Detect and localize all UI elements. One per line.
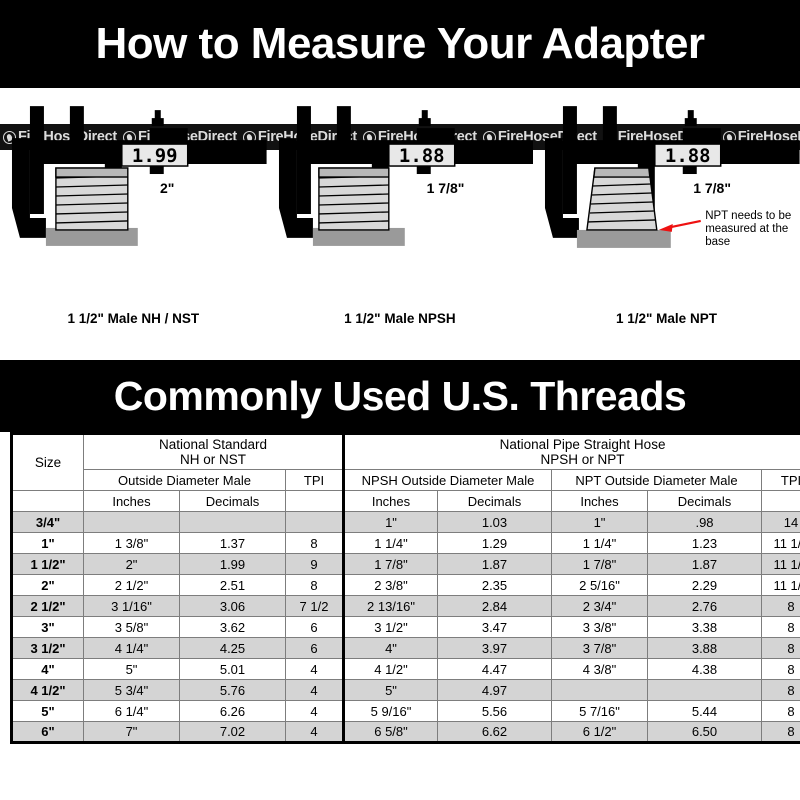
table-header-nh-inches: Inches (84, 491, 180, 512)
table-header-np-tpi-blank (762, 491, 800, 512)
caliper-diagram-section: FireHoseDirectFireHoseDirectFireHoseDire… (0, 88, 800, 360)
cell-npt-decimals: 3.88 (648, 638, 762, 659)
table-row: 5"6 1/4"6.2645 9/16"5.565 7/16"5.448 (12, 701, 800, 722)
npt-base-arrow-icon (659, 221, 701, 232)
cell-nh-tpi: 4 (286, 701, 344, 722)
caliper-item-nh-nst: 1.99 2 (0, 88, 267, 360)
cell-nh-decimals: 4.25 (180, 638, 286, 659)
caliper-reading-npsh: 1.88 (399, 145, 445, 167)
cell-npsh-decimals: 4.97 (438, 680, 552, 701)
section-title-banner: Commonly Used U.S. Threads (0, 360, 800, 432)
section-title: Commonly Used U.S. Threads (114, 373, 687, 420)
cell-npsh-decimals: 1.87 (438, 554, 552, 575)
group-np-line2: NPSH or NPT (346, 452, 800, 467)
cell-size: 4" (12, 659, 84, 680)
cell-np-tpi: 8 (762, 722, 800, 743)
cell-npsh-inches: 1 7/8" (344, 554, 438, 575)
cell-npt-decimals: 3.38 (648, 617, 762, 638)
caliper-fraction-npt: 1 7/8" (693, 180, 731, 196)
cell-npsh-decimals: 2.35 (438, 575, 552, 596)
table-row: 1 1/2"2"1.9991 7/8"1.871 7/8"1.8711 1/2 (12, 554, 800, 575)
cell-nh-tpi: 8 (286, 533, 344, 554)
cell-size: 2" (12, 575, 84, 596)
cell-npsh-decimals: 3.47 (438, 617, 552, 638)
cell-nh-decimals: 5.01 (180, 659, 286, 680)
table-header-nh-decimals: Decimals (180, 491, 286, 512)
table-row: 3 1/2"4 1/4"4.2564"3.973 7/8"3.888 (12, 638, 800, 659)
infographic-page: How to Measure Your Adapter FireHoseDire… (0, 0, 800, 800)
cell-nh-decimals: 3.06 (180, 596, 286, 617)
cell-np-tpi: 11 1/2 (762, 575, 800, 596)
caliper-illustration-npt: 1.88 (533, 88, 800, 288)
caliper-illustration-nh: 1.99 (0, 88, 267, 288)
cell-nh-tpi: 7 1/2 (286, 596, 344, 617)
cell-nh-tpi: 9 (286, 554, 344, 575)
caliper-group: 1.99 2 (0, 88, 800, 360)
table-header-size: Size (12, 434, 84, 491)
cell-nh-inches (84, 512, 180, 533)
cell-npsh-inches: 4" (344, 638, 438, 659)
cell-npsh-inches: 3 1/2" (344, 617, 438, 638)
cell-nh-decimals: 2.51 (180, 575, 286, 596)
table-header-npsh-inches: Inches (344, 491, 438, 512)
caliper-caption-npsh: 1 1/2" Male NPSH (267, 311, 534, 326)
table-header-npt-od: NPT Outside Diameter Male (552, 470, 762, 491)
cell-size: 4 1/2" (12, 680, 84, 701)
cell-npt-inches: 2 3/4" (552, 596, 648, 617)
table-header-nh-od: Outside Diameter Male (84, 470, 286, 491)
cell-npt-inches: 6 1/2" (552, 722, 648, 743)
cell-size: 2 1/2" (12, 596, 84, 617)
table-header-unit-row: Inches Decimals Inches Decimals Inches D… (12, 491, 800, 512)
cell-nh-decimals: 5.76 (180, 680, 286, 701)
page-title: How to Measure Your Adapter (95, 19, 704, 69)
cell-npt-inches: 1 1/4" (552, 533, 648, 554)
threads-table-container: Size National Standard NH or NST Nationa… (0, 432, 800, 744)
cell-nh-inches: 6 1/4" (84, 701, 180, 722)
cell-npsh-inches: 2 3/8" (344, 575, 438, 596)
cell-npt-decimals: 4.38 (648, 659, 762, 680)
cell-nh-inches: 5 3/4" (84, 680, 180, 701)
cell-size: 3" (12, 617, 84, 638)
cell-nh-inches: 2 1/2" (84, 575, 180, 596)
cell-np-tpi: 8 (762, 617, 800, 638)
table-row: 2 1/2"3 1/16"3.067 1/22 13/16"2.842 3/4"… (12, 596, 800, 617)
cell-np-tpi: 14 (762, 512, 800, 533)
table-header-size-blank (12, 491, 84, 512)
caliper-illustration-npsh: 1.88 (267, 88, 534, 288)
npt-base-note-line1: NPT needs to be (705, 210, 800, 223)
group-np-line1: National Pipe Straight Hose (346, 437, 800, 452)
cell-nh-decimals: 1.37 (180, 533, 286, 554)
cell-nh-tpi: 8 (286, 575, 344, 596)
caliper-caption-npt: 1 1/2" Male NPT (533, 311, 800, 326)
cell-npt-decimals (648, 680, 762, 701)
cell-size: 6" (12, 722, 84, 743)
cell-npt-decimals: 1.87 (648, 554, 762, 575)
cell-npt-inches: 2 5/16" (552, 575, 648, 596)
cell-nh-tpi: 4 (286, 680, 344, 701)
group-nh-line2: NH or NST (85, 452, 341, 467)
cell-size: 3 1/2" (12, 638, 84, 659)
npt-base-note: NPT needs to be measured at the base (705, 210, 800, 249)
cell-size: 3/4" (12, 512, 84, 533)
table-header-group-row: Size National Standard NH or NST Nationa… (12, 434, 800, 470)
cell-nh-decimals: 3.62 (180, 617, 286, 638)
cell-np-tpi: 8 (762, 596, 800, 617)
page-title-banner: How to Measure Your Adapter (0, 0, 800, 88)
caliper-fraction-nh: 2" (160, 180, 174, 196)
cell-nh-decimals: 1.99 (180, 554, 286, 575)
threads-table: Size National Standard NH or NST Nationa… (10, 432, 800, 744)
cell-np-tpi: 8 (762, 638, 800, 659)
cell-nh-tpi: 6 (286, 617, 344, 638)
table-header-npt-inches: Inches (552, 491, 648, 512)
table-header-group-np: National Pipe Straight Hose NPSH or NPT (344, 434, 800, 470)
cell-npsh-decimals: 5.56 (438, 701, 552, 722)
table-row: 1"1 3/8"1.3781 1/4"1.291 1/4"1.2311 1/2 (12, 533, 800, 554)
cell-npsh-inches: 2 13/16" (344, 596, 438, 617)
cell-nh-inches: 3 5/8" (84, 617, 180, 638)
cell-nh-inches: 5" (84, 659, 180, 680)
cell-nh-tpi (286, 512, 344, 533)
caliper-reading-npt: 1.88 (665, 145, 711, 167)
cell-npt-decimals: 1.23 (648, 533, 762, 554)
caliper-reading-nh: 1.99 (132, 145, 178, 167)
cell-np-tpi: 8 (762, 659, 800, 680)
caliper-fraction-npsh: 1 7/8" (427, 180, 465, 196)
cell-npsh-decimals: 1.29 (438, 533, 552, 554)
cell-npt-decimals: 6.50 (648, 722, 762, 743)
cell-npt-inches: 5 7/16" (552, 701, 648, 722)
table-header-npsh-decimals: Decimals (438, 491, 552, 512)
table-row: 3"3 5/8"3.6263 1/2"3.473 3/8"3.388 (12, 617, 800, 638)
cell-npt-inches: 1 7/8" (552, 554, 648, 575)
cell-npt-inches: 1" (552, 512, 648, 533)
npt-base-note-line2: measured at the base (705, 223, 800, 249)
cell-nh-decimals: 7.02 (180, 722, 286, 743)
cell-size: 1 1/2" (12, 554, 84, 575)
table-row: 2"2 1/2"2.5182 3/8"2.352 5/16"2.2911 1/2 (12, 575, 800, 596)
cell-nh-inches: 2" (84, 554, 180, 575)
cell-nh-decimals (180, 512, 286, 533)
caliper-item-npt: 1.88 (533, 88, 800, 360)
table-header-npsh-od: NPSH Outside Diameter Male (344, 470, 552, 491)
cell-npt-inches: 3 3/8" (552, 617, 648, 638)
cell-np-tpi: 11 1/2 (762, 554, 800, 575)
table-row: 4 1/2"5 3/4"5.7645"4.978 (12, 680, 800, 701)
cell-nh-inches: 4 1/4" (84, 638, 180, 659)
cell-npsh-inches: 1" (344, 512, 438, 533)
cell-size: 1" (12, 533, 84, 554)
cell-npsh-decimals: 2.84 (438, 596, 552, 617)
cell-npsh-inches: 5 9/16" (344, 701, 438, 722)
table-header-npt-decimals: Decimals (648, 491, 762, 512)
table-header-group-nh: National Standard NH or NST (84, 434, 344, 470)
table-row: 3/4"1"1.031".9814 (12, 512, 800, 533)
cell-npt-decimals: 5.44 (648, 701, 762, 722)
group-nh-line1: National Standard (85, 437, 341, 452)
table-row: 6"7"7.0246 5/8"6.626 1/2"6.508 (12, 722, 800, 743)
cell-npt-decimals: .98 (648, 512, 762, 533)
cell-np-tpi: 8 (762, 680, 800, 701)
table-row: 4"5"5.0144 1/2"4.474 3/8"4.388 (12, 659, 800, 680)
table-header-sub-row: Outside Diameter Male TPI NPSH Outside D… (12, 470, 800, 491)
cell-npsh-inches: 4 1/2" (344, 659, 438, 680)
cell-npt-inches (552, 680, 648, 701)
cell-npsh-decimals: 1.03 (438, 512, 552, 533)
threads-table-body: 3/4"1"1.031".98141"1 3/8"1.3781 1/4"1.29… (12, 512, 800, 743)
cell-nh-inches: 1 3/8" (84, 533, 180, 554)
cell-npt-inches: 4 3/8" (552, 659, 648, 680)
cell-nh-tpi: 6 (286, 638, 344, 659)
cell-npt-decimals: 2.29 (648, 575, 762, 596)
cell-npt-inches: 3 7/8" (552, 638, 648, 659)
cell-nh-inches: 7" (84, 722, 180, 743)
cell-nh-decimals: 6.26 (180, 701, 286, 722)
cell-nh-tpi: 4 (286, 722, 344, 743)
cell-npsh-inches: 1 1/4" (344, 533, 438, 554)
table-header-np-tpi: TPI (762, 470, 800, 491)
caliper-caption-nh: 1 1/2" Male NH / NST (0, 311, 267, 326)
cell-npsh-decimals: 4.47 (438, 659, 552, 680)
table-header-nh-tpi: TPI (286, 470, 344, 491)
cell-np-tpi: 11 1/2 (762, 533, 800, 554)
table-header-nh-tpi-blank (286, 491, 344, 512)
cell-npsh-decimals: 3.97 (438, 638, 552, 659)
cell-npt-decimals: 2.76 (648, 596, 762, 617)
cell-npsh-inches: 6 5/8" (344, 722, 438, 743)
cell-np-tpi: 8 (762, 701, 800, 722)
cell-size: 5" (12, 701, 84, 722)
caliper-item-npsh: 1.88 1 7/8" 1 1/2" Male NPSH (267, 88, 534, 360)
cell-npsh-inches: 5" (344, 680, 438, 701)
cell-npsh-decimals: 6.62 (438, 722, 552, 743)
cell-nh-inches: 3 1/16" (84, 596, 180, 617)
cell-nh-tpi: 4 (286, 659, 344, 680)
